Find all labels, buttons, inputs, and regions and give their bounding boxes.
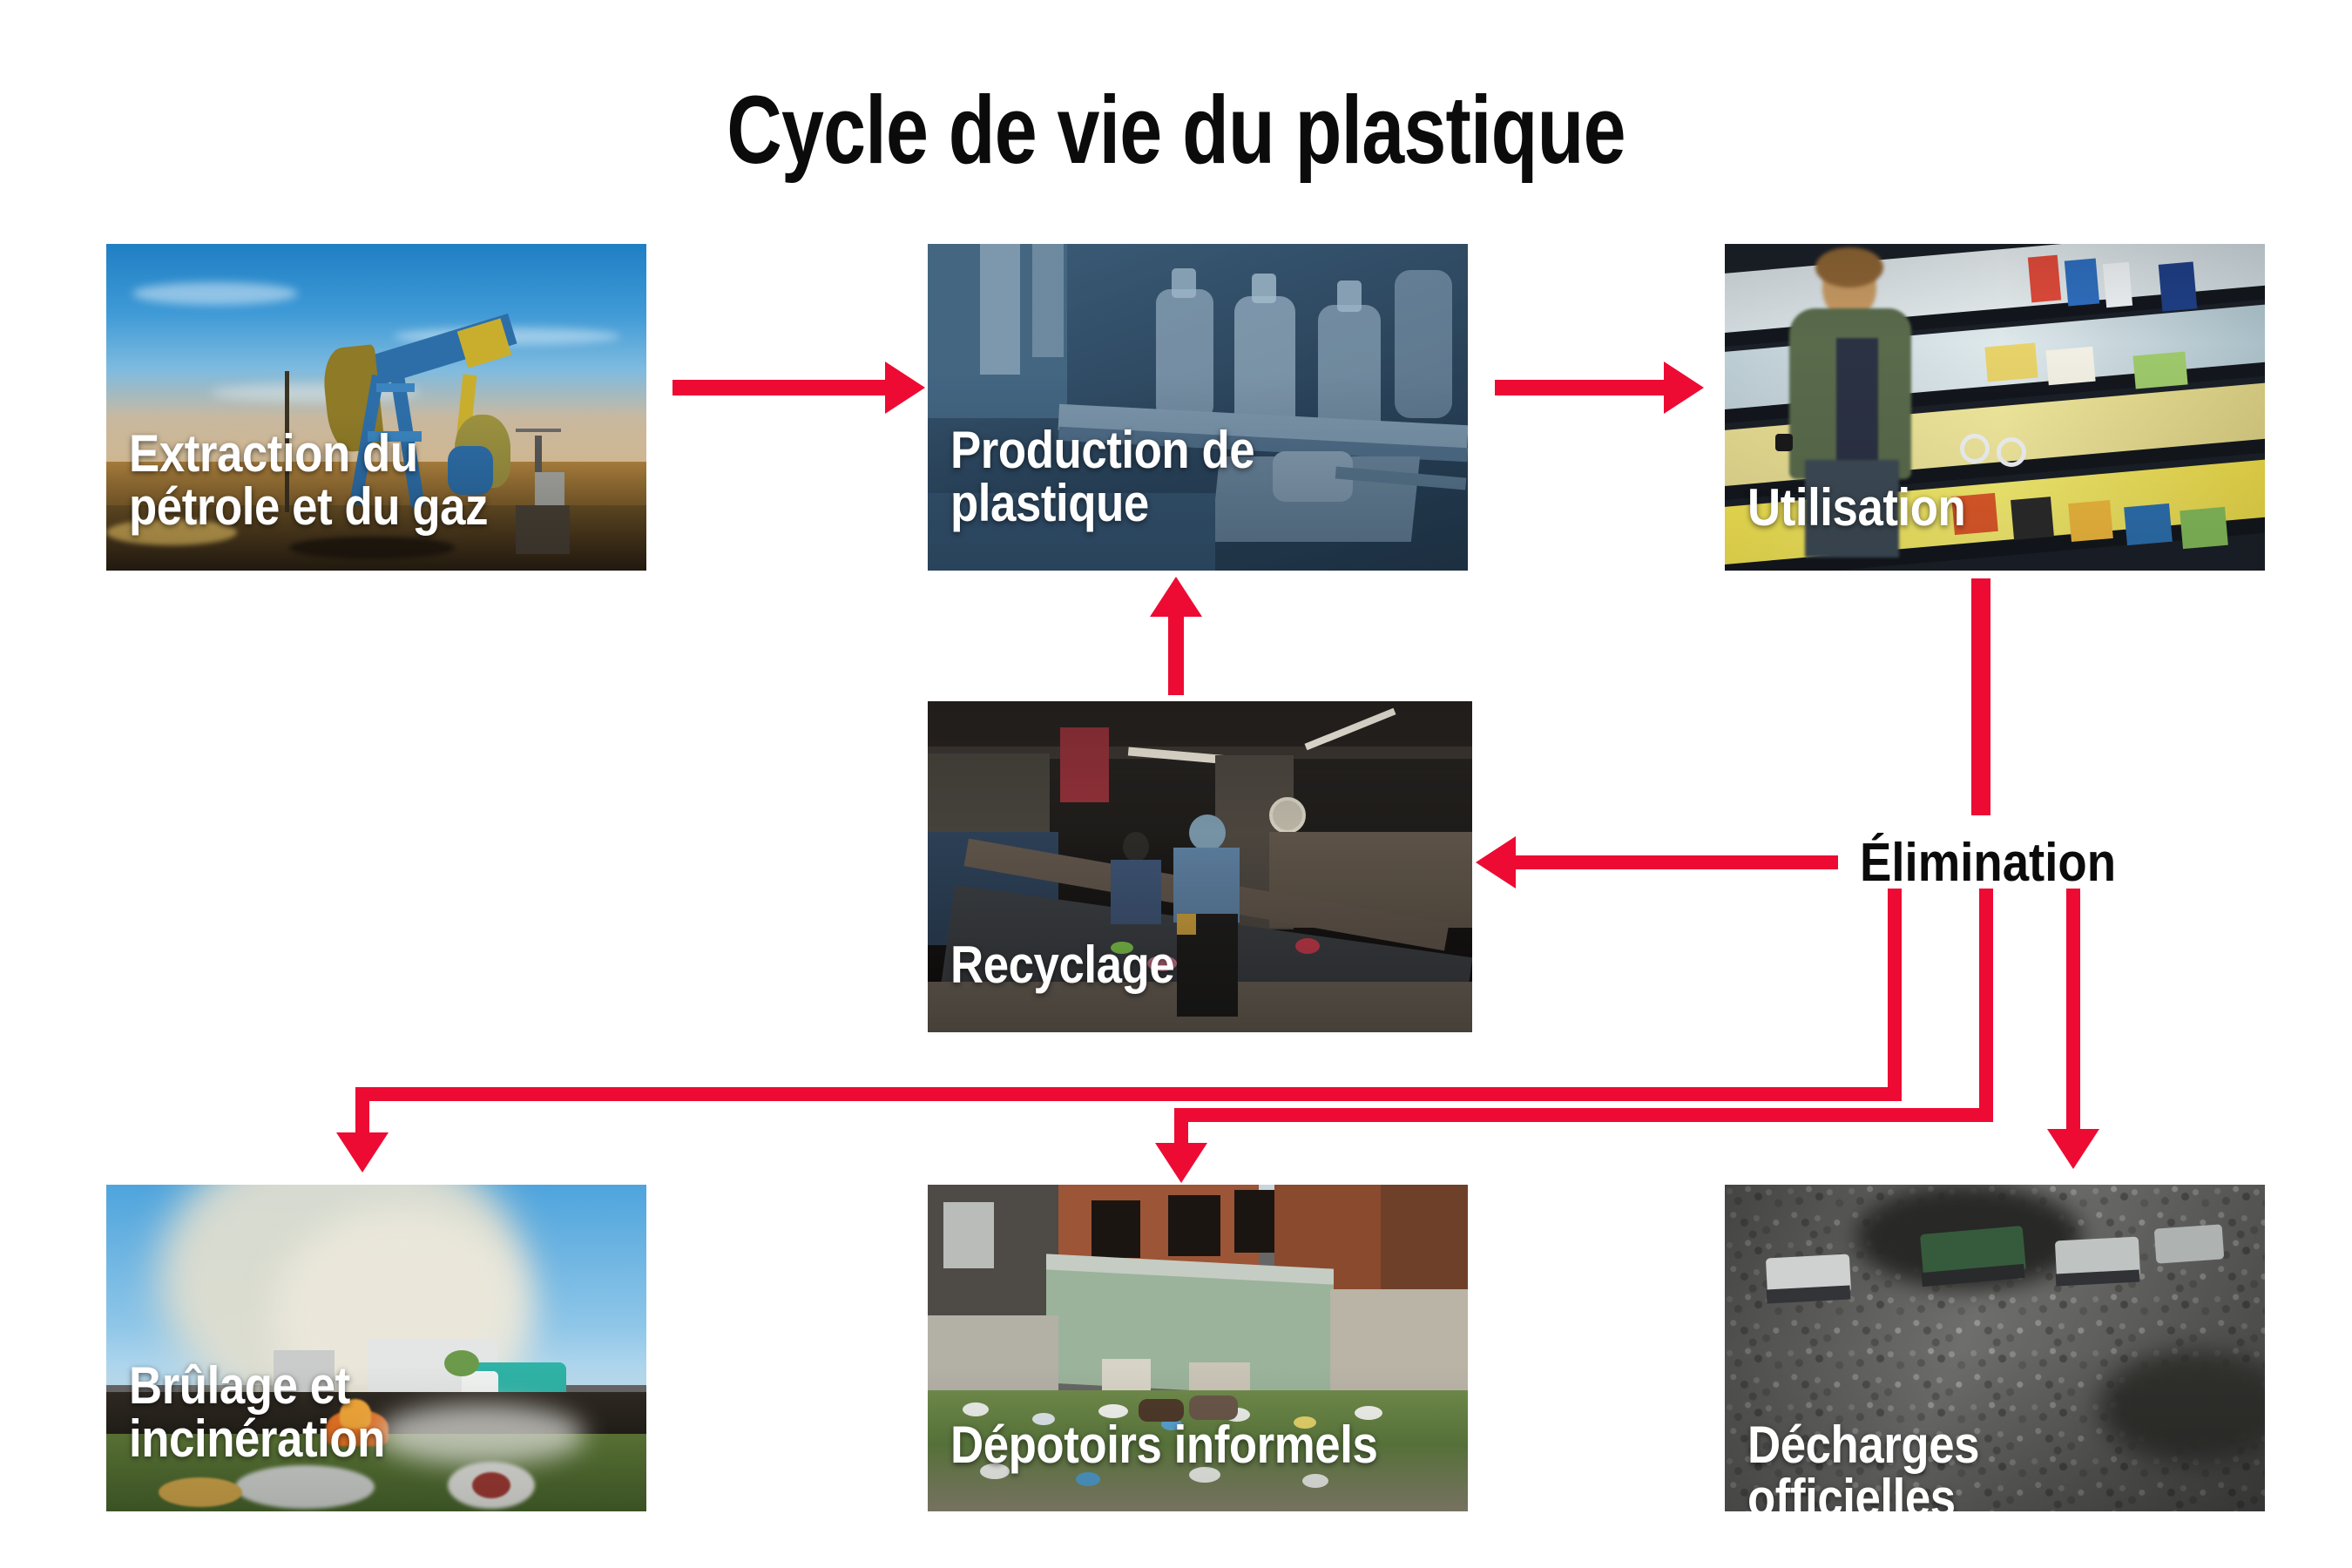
flow-elimination-to-brulage-stem <box>1888 889 1902 1101</box>
flow-production-to-utilisation-arrowhead <box>1664 362 1704 414</box>
node-card-extraction[interactable]: Extraction du pétrole et du gaz <box>106 244 646 571</box>
flow-elimination-to-decharges-stem <box>2066 889 2080 1141</box>
flow-elimination-to-brulage-arrowhead <box>336 1132 389 1173</box>
flow-elimination-to-brulage-elbow <box>355 1087 1902 1101</box>
depotoirs-photo <box>928 1185 1468 1511</box>
production-photo <box>928 244 1468 571</box>
utilisation-photo <box>1725 244 2265 571</box>
brulage-photo <box>106 1185 646 1511</box>
flow-elimination-to-depotoirs-arrowhead <box>1155 1143 1207 1183</box>
flow-elimination-to-recyclage-arrowhead <box>1476 836 1516 889</box>
node-card-decharges[interactable]: Décharges officielles <box>1725 1185 2265 1511</box>
flow-utilisation-to-elimination-bar <box>1971 578 1990 815</box>
flow-extraction-to-production-arrowhead <box>885 362 925 414</box>
node-card-brulage[interactable]: Brûlage et incinération <box>106 1185 646 1511</box>
extraction-photo <box>106 244 646 571</box>
decharges-photo <box>1725 1185 2265 1511</box>
flow-elimination-to-recyclage-shaft <box>1516 855 1838 869</box>
flow-production-to-utilisation-shaft <box>1495 380 1669 395</box>
node-card-recyclage[interactable]: Recyclage <box>928 701 1472 1032</box>
recyclage-photo <box>928 701 1472 1032</box>
node-card-utilisation[interactable]: Utilisation <box>1725 244 2265 571</box>
node-label-elimination[interactable]: Élimination <box>1860 832 2116 894</box>
flow-recyclage-to-production-arrowhead <box>1150 577 1202 617</box>
node-card-depotoirs[interactable]: Dépotoirs informels <box>928 1185 1468 1511</box>
flow-elimination-to-decharges-arrowhead <box>2047 1129 2099 1169</box>
flow-elimination-to-depotoirs-stem <box>1979 889 1993 1122</box>
diagram-canvas: Cycle de vie du plastique <box>0 0 2352 1568</box>
node-card-production[interactable]: Production de plastique <box>928 244 1468 571</box>
flow-elimination-to-depotoirs-elbow <box>1174 1108 1993 1122</box>
page-title: Cycle de vie du plastique <box>235 83 2117 179</box>
flow-extraction-to-production-shaft <box>672 380 890 395</box>
